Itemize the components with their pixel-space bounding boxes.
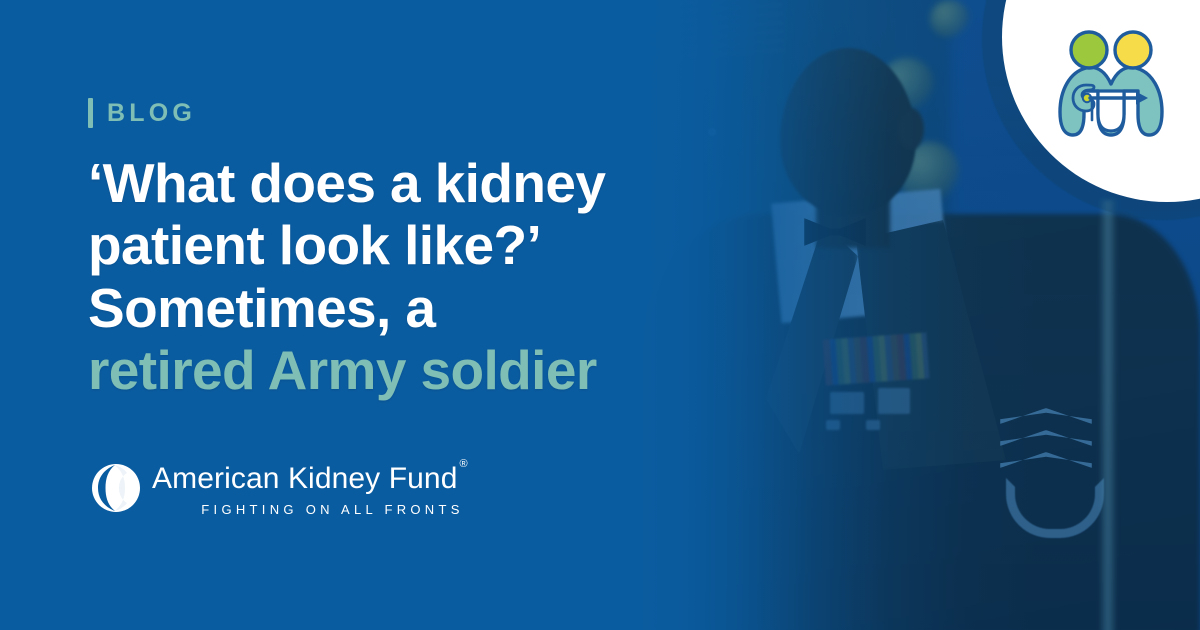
logo-tagline: FIGHTING ON ALL FRONTS	[152, 502, 466, 517]
registered-mark: ®	[460, 458, 468, 470]
eyebrow-blog: BLOG	[88, 96, 196, 130]
headline-line-2: patient look like?’	[88, 214, 648, 276]
headline-line-4: retired Army soldier	[88, 339, 648, 401]
two-people-kidney-donation-icon	[1056, 28, 1166, 140]
social-card: BLOG ‘What does a kidney patient look li…	[0, 0, 1200, 630]
eyebrow-label: BLOG	[107, 101, 196, 126]
card-content: BLOG ‘What does a kidney patient look li…	[88, 0, 688, 630]
american-kidney-fund-logo: American Kidney Fund® FIGHTING ON ALL FR…	[90, 458, 466, 517]
kidney-circle-icon	[90, 462, 142, 514]
eyebrow-accent-bar	[88, 98, 93, 128]
headline-line-1: ‘What does a kidney	[88, 152, 648, 214]
page-title: ‘What does a kidney patient look like?’ …	[88, 152, 648, 402]
logo-name: American Kidney Fund®	[152, 462, 466, 495]
headline-line-3: Sometimes, a	[88, 277, 648, 339]
logo-wordmark: American Kidney Fund® FIGHTING ON ALL FR…	[152, 458, 466, 517]
